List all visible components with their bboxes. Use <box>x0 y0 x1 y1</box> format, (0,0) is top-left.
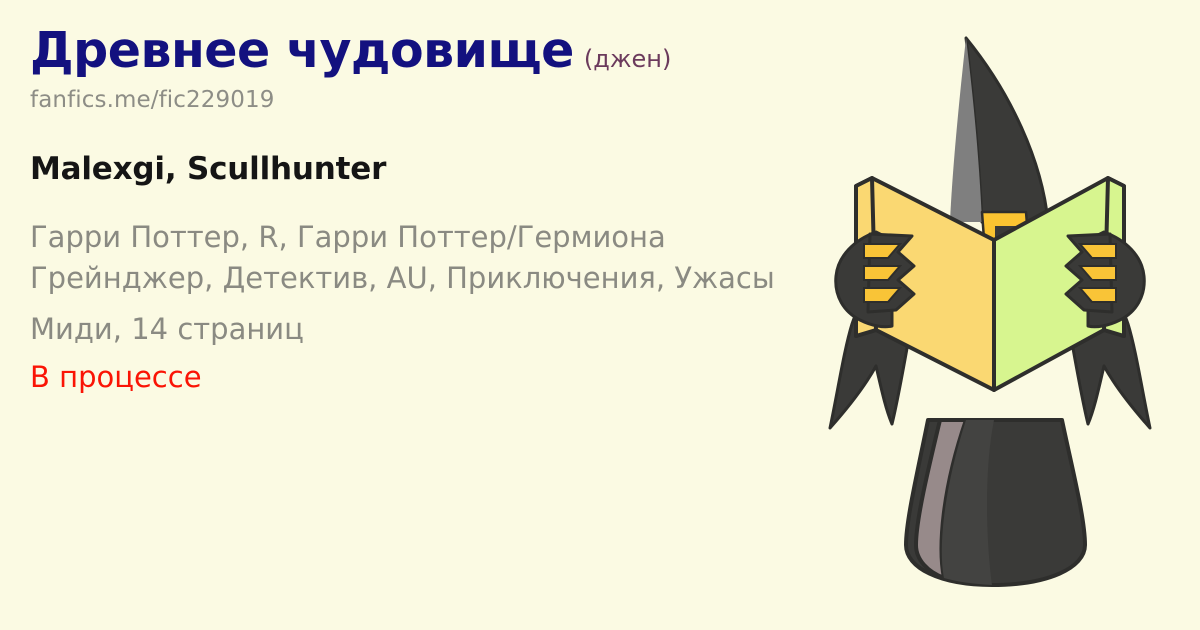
fic-authors: Malexgi, Scullhunter <box>30 151 820 187</box>
fic-url[interactable]: fanfics.me/fic229019 <box>30 87 820 113</box>
fanfic-text-column: Древнее чудовище(джен) fanfics.me/fic229… <box>30 26 820 397</box>
fic-category-label: (джен) <box>584 45 671 73</box>
witch-reading-book-illustration <box>780 0 1200 630</box>
fanfic-preview-card: Древнее чудовище(джен) fanfics.me/fic229… <box>0 0 1200 630</box>
page-title: Древнее чудовище <box>30 22 574 79</box>
title-row: Древнее чудовище(джен) <box>30 26 820 75</box>
robe-group <box>906 420 1085 585</box>
fic-size: Миди, 14 страниц <box>30 309 820 350</box>
status-badge: В процессе <box>30 357 820 398</box>
fic-metadata: Гарри Поттер, R, Гарри Поттер/Гермиона Г… <box>30 217 820 298</box>
